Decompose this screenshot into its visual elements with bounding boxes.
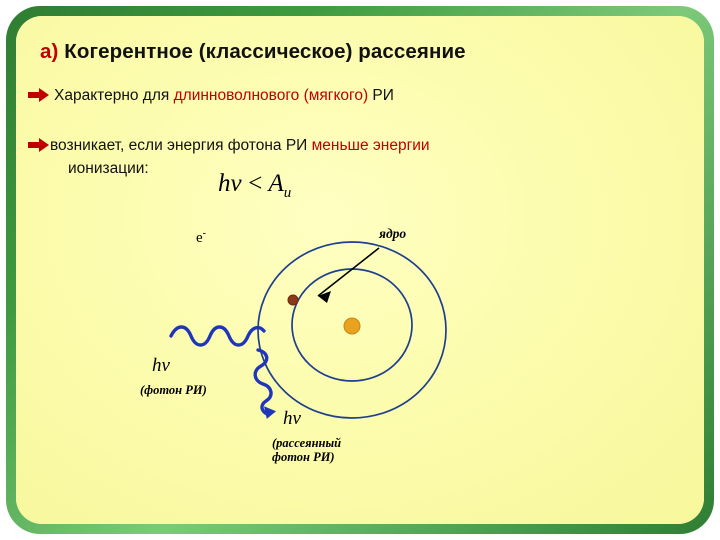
electron-dot	[288, 295, 298, 305]
bullet-1-highlight: длинноволнового (мягкого)	[174, 87, 369, 104]
incident-photon-wave	[171, 327, 264, 345]
title-prefix: а)	[40, 40, 58, 63]
bullet-1-text-before: Характерно для	[54, 87, 174, 104]
scattered-photon-h: h	[283, 408, 293, 429]
formula-h: h	[218, 170, 231, 197]
scattered-photon-caption-1: (рассеянный	[272, 436, 341, 450]
electron-label-text: e	[196, 230, 203, 246]
formula-ionization: hν < Aи	[218, 170, 291, 202]
bullet-arrow-icon-1	[28, 87, 50, 103]
scattered-photon-nu: ν	[293, 408, 301, 429]
nucleus-pointer-line	[318, 248, 379, 296]
incident-photon-h: h	[152, 355, 162, 376]
scattered-photon-wave	[255, 350, 271, 414]
bullet-item-2: возникает, если энергия фотона РИ меньше…	[50, 136, 660, 157]
electron-label-superscript: -	[203, 228, 206, 239]
bullet-2-text-before: возникает, если энергия фотона РИ	[50, 137, 312, 154]
bullet-1-text-after: РИ	[368, 87, 394, 104]
scattering-diagram	[0, 0, 720, 540]
electron-label: e-	[196, 228, 206, 247]
bullet-arrow-icon-2	[28, 137, 50, 153]
bullet-2-highlight: меньше энергии	[312, 137, 430, 154]
incident-photon-caption: (фотон РИ)	[140, 383, 207, 397]
bullet-item-2-line2: ионизации:	[68, 159, 149, 180]
scattered-photon-caption-2: фотон РИ)	[272, 450, 335, 464]
formula-nu: ν	[231, 170, 242, 197]
inner-orbit-circle	[292, 269, 412, 381]
page-title: а) Когерентное (классическое) рассеяние	[40, 40, 680, 64]
formula-relation: <	[247, 170, 264, 197]
incident-photon-nu: ν	[162, 355, 170, 376]
bullet-item-1: Характерно для длинноволнового (мягкого)…	[54, 86, 654, 107]
scattered-photon-symbol: hν	[283, 408, 301, 430]
formula-A: A	[269, 170, 284, 197]
slide-content: а) Когерентное (классическое) рассеяние …	[0, 0, 720, 540]
scattered-photon-arrowhead	[260, 402, 277, 419]
title-main: Когерентное (классическое) рассеяние	[58, 40, 465, 63]
nucleus-label: ядро	[379, 226, 406, 242]
nucleus-dot	[344, 318, 360, 334]
slide-root: а) Когерентное (классическое) рассеяние …	[0, 0, 720, 540]
formula-subscript: и	[284, 185, 292, 201]
outer-orbit-circle	[258, 242, 446, 418]
nucleus-pointer-arrowhead	[318, 291, 331, 303]
scattered-photon-caption: (рассеянный фотон РИ)	[272, 436, 341, 465]
incident-photon-symbol: hν	[152, 355, 170, 377]
